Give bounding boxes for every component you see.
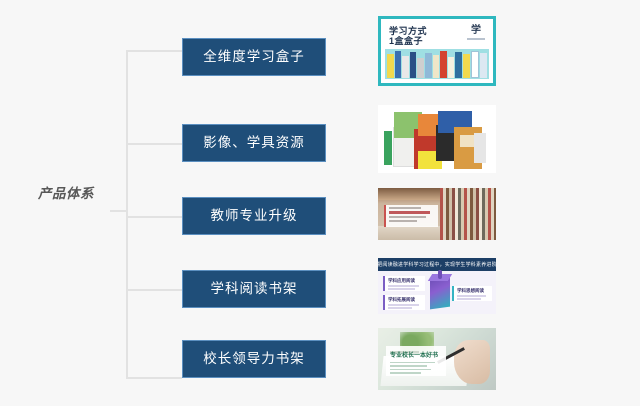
shelf-books-right	[440, 188, 496, 240]
connector-branch-4	[126, 289, 182, 291]
photo-caption-card: 专业校长一本好书	[386, 346, 446, 376]
thumbnail-subject-reading-infographic: 把阅读融进学科学习过程中，实现学生学科素养进阶 学科应用阅读 学科拓展阅读 学科…	[378, 258, 496, 314]
photo-hand-pen	[454, 340, 490, 384]
node-box-3[interactable]: 教师专业升级	[182, 197, 326, 235]
book-cover	[384, 131, 392, 165]
node-box-1[interactable]: 全维度学习盒子	[182, 38, 326, 76]
infographic-panel-3-title: 学科思想阅读	[457, 288, 489, 293]
caption-line	[389, 216, 426, 218]
node-label-4: 学科阅读书架	[211, 282, 298, 296]
shelf-caption-card	[384, 205, 438, 227]
infographic-panel-2: 学科拓展阅读	[383, 295, 425, 310]
caption-line	[389, 220, 417, 222]
book-3d-figure	[438, 270, 442, 279]
book-cover	[474, 133, 486, 163]
infographic-panel-2-title: 学科拓展阅读	[388, 297, 422, 302]
photo-caption-title: 专业校长一本好书	[390, 353, 442, 360]
caption-line	[389, 207, 421, 209]
poster-title: 学习方式 1盒盒子	[389, 26, 427, 46]
connector-branch-3	[126, 216, 182, 218]
infographic-header: 把阅读融进学科学习过程中，实现学生学科素养进阶	[378, 258, 496, 271]
diagram-canvas: 产品体系 全维度学习盒子 影像、学具资源 教师专业升级 学科阅读书架 校长领导力…	[0, 0, 640, 406]
infographic-header-text: 把阅读融进学科学习过程中，实现学生学科素养进阶	[378, 261, 496, 268]
infographic-panel-1-title: 学科应用阅读	[388, 278, 422, 283]
node-box-5[interactable]: 校长领导力书架	[182, 340, 326, 378]
shelf-floor	[378, 226, 440, 240]
infographic-panel-3: 学科思想阅读	[452, 286, 492, 301]
thumbnail-resource-book-covers	[378, 105, 496, 173]
caption-line	[389, 211, 430, 214]
node-label-3: 教师专业升级	[211, 209, 298, 223]
poster-badge-underline	[467, 38, 485, 40]
connector-branch-5	[126, 377, 182, 379]
poster-book-shelf	[385, 49, 489, 79]
infographic-panel-1: 学科应用阅读	[383, 276, 425, 291]
node-label-2: 影像、学具资源	[203, 136, 305, 150]
root-label: 产品体系	[22, 182, 110, 202]
thumbnail-principal-leadership-photo: 专业校长一本好书	[378, 328, 496, 390]
book-3d-illustration	[430, 277, 450, 310]
node-label-1: 全维度学习盒子	[203, 50, 305, 64]
poster-badge-mark: 学	[467, 26, 485, 36]
thumbnail-learning-box-poster: 学习方式 1盒盒子 学	[378, 16, 496, 86]
poster-title-line2: 1盒盒子	[389, 36, 423, 46]
thumbnail-library-shelves-photo	[378, 188, 496, 240]
node-box-4[interactable]: 学科阅读书架	[182, 270, 326, 308]
poster-title-line1: 学习方式	[389, 26, 427, 36]
poster-badge: 学	[467, 26, 485, 42]
node-label-5: 校长领导力书架	[203, 352, 305, 366]
connector-branch-1	[126, 50, 182, 52]
node-box-2[interactable]: 影像、学具资源	[182, 124, 326, 162]
connector-branch-2	[126, 143, 182, 145]
connector-trunk	[126, 50, 128, 378]
